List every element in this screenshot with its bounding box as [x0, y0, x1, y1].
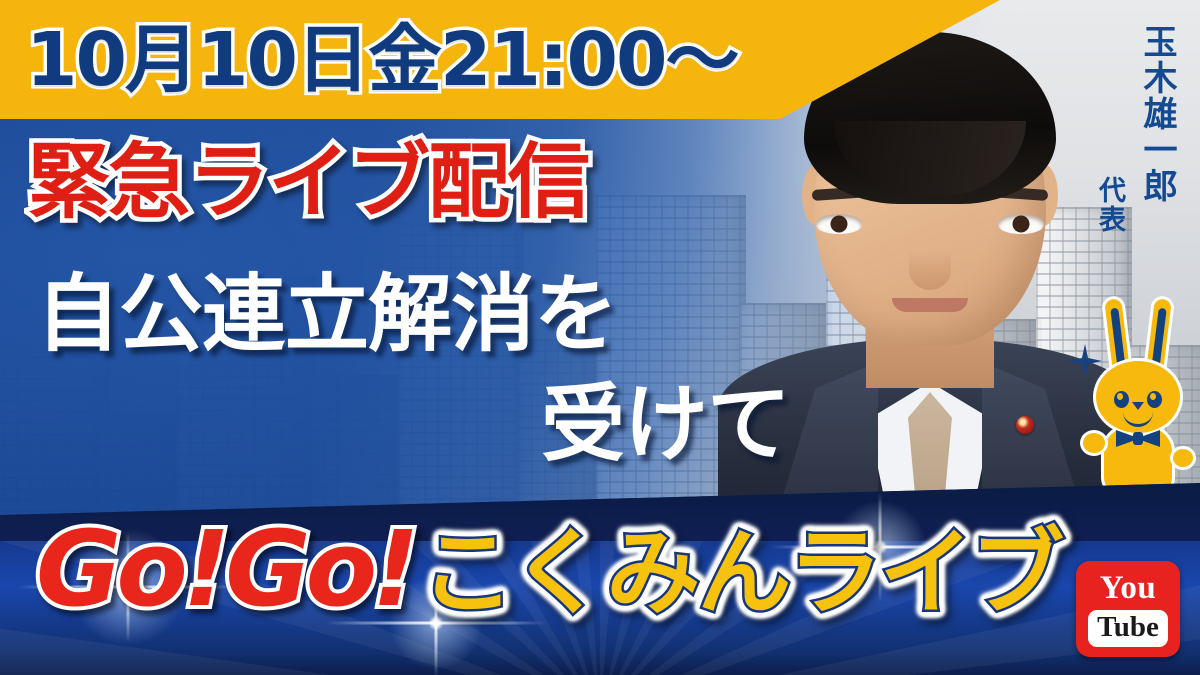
headline-line-1: 自公連立解消を: [36, 272, 796, 358]
thumbnail-canvas: 10月10日金21:00〜 緊急ライブ配信 自公連立解消を 受けて 玉木雄一郎 …: [0, 0, 1200, 675]
rabbit-arm-left: [1080, 430, 1108, 456]
rabbit-muzzle-icon: [1123, 411, 1153, 427]
rabbit-arm-right: [1170, 446, 1196, 470]
youtube-tube-text: Tube: [1088, 610, 1168, 647]
speaker-name: 玉木雄一郎: [1133, 24, 1182, 204]
rabbit-mascot: [1084, 296, 1192, 508]
youtube-you-text: You: [1100, 572, 1157, 605]
headline-line-2: 受けて: [36, 382, 796, 468]
rabbit-bowtie-knot: [1133, 432, 1143, 445]
rabbit-head: [1093, 358, 1183, 436]
emergency-headline: 緊急ライブ配信: [28, 142, 588, 224]
date-text: 10月10日金21:00〜: [26, 23, 738, 97]
lapel-pin-icon: [1016, 416, 1034, 434]
logo-gogo-text: Go!Go!: [36, 517, 414, 621]
speaker-name-block: 玉木雄一郎 代表: [1090, 24, 1182, 234]
logo-kana-text: こくみんライブ: [420, 527, 1061, 621]
youtube-badge[interactable]: You Tube: [1076, 561, 1180, 657]
main-headline: 自公連立解消を 受けて: [36, 272, 796, 467]
program-logo-ribbon: Go!Go! こくみんライブ: [0, 483, 1200, 675]
program-logo: Go!Go! こくみんライブ: [36, 517, 1061, 621]
rabbit-eye-left-icon: [1114, 391, 1129, 408]
speaker-role: 代表: [1090, 176, 1129, 234]
rabbit-eye-right-icon: [1147, 391, 1162, 408]
